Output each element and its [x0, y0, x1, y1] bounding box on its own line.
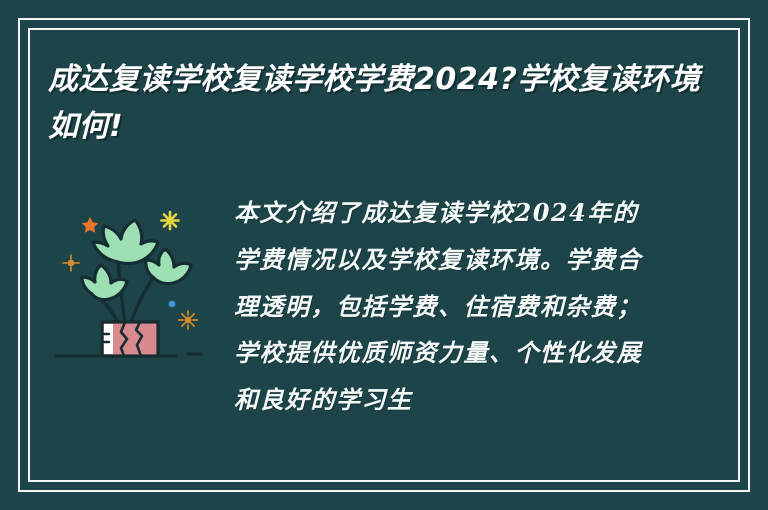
illustration-container — [48, 190, 218, 373]
cracked-pot-plant-icon — [48, 198, 218, 373]
content-row: 本文介绍了成达复读学校2024年的学费情况以及学校复读环境。学费合理透明，包括学… — [48, 190, 720, 424]
blue-dot-right-sparkle — [169, 301, 176, 308]
poster-canvas: 成达复读学校复读学校学费2024?学校复读环境如何! — [0, 0, 768, 510]
body-paragraph: 本文介绍了成达复读学校2024年的学费情况以及学校复读环境。学费合理透明，包括学… — [234, 190, 654, 424]
amber-starburst-right-sparkle — [179, 311, 197, 329]
leaf-center — [93, 220, 158, 264]
flower-pot — [102, 322, 158, 356]
orange-star-sparkle — [82, 217, 98, 233]
amber-dot-left-sparkle — [63, 255, 79, 271]
page-title: 成达复读学校复读学校学费2024?学校复读环境如何! — [48, 57, 708, 150]
yellow-starburst-sparkle — [162, 212, 179, 229]
